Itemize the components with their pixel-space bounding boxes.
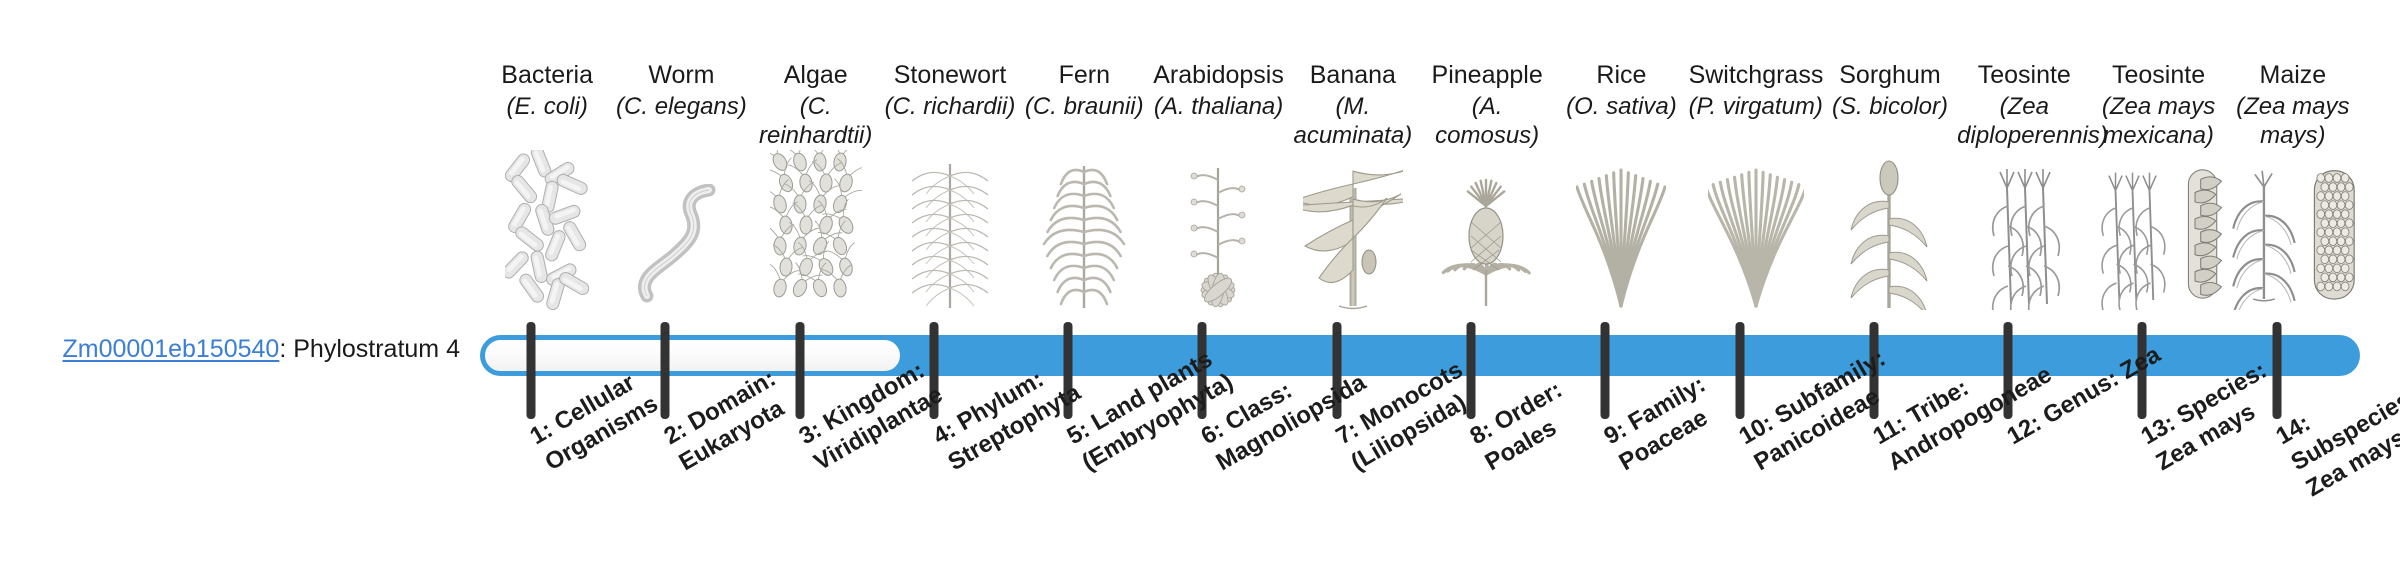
- species-column: Arabidopsis(A. thaliana): [1151, 0, 1285, 580]
- timeline-tick: [527, 322, 536, 419]
- species-common-name: Algae: [749, 60, 883, 90]
- species-illustration-algae-cells: [749, 168, 883, 310]
- species-illustration-stonewort-strands: [883, 168, 1017, 310]
- species-illustration-fern-frond: [1017, 168, 1151, 310]
- species-illustration-sorghum-stalk: [1823, 168, 1957, 310]
- species-common-name: Switchgrass: [1689, 60, 1823, 90]
- species-column: Stonewort(C. richardii): [883, 0, 1017, 580]
- species-common-name: Bacteria: [480, 60, 614, 90]
- species-latin-name: (C. braunii): [1017, 92, 1151, 121]
- species-common-name: Arabidopsis: [1151, 60, 1285, 90]
- species-illustration-banana-plant: [1286, 168, 1420, 310]
- species-latin-name: (E. coli): [480, 92, 614, 121]
- species-latin-name: (Zea mays mexicana): [2091, 92, 2225, 150]
- species-column: Sorghum(S. bicolor): [1823, 0, 1957, 580]
- species-common-name: Fern: [1017, 60, 1151, 90]
- species-column: Pineapple(A. comosus): [1420, 0, 1554, 580]
- species-common-name: Teosinte: [1957, 60, 2091, 90]
- species-illustration-rice-grass: [1554, 168, 1688, 310]
- species-latin-name: (S. bicolor): [1823, 92, 1957, 121]
- gene-id-link[interactable]: Zm00001eb150540: [62, 335, 279, 363]
- species-column: Teosinte(Zea diploperennis): [1957, 0, 2091, 580]
- species-common-name: Maize: [2226, 60, 2360, 90]
- species-column: Teosinte(Zea mays mexicana): [2091, 0, 2225, 580]
- species-illustration-switchgrass-clump: [1689, 168, 1823, 310]
- species-latin-name: (Zea mays mays): [2226, 92, 2360, 150]
- species-latin-name: (P. virgatum): [1689, 92, 1823, 121]
- species-illustration-teosinte-plant: [1957, 168, 2091, 310]
- species-latin-name: (M. acuminata): [1286, 92, 1420, 150]
- species-latin-name: (C. reinhardtii): [749, 92, 883, 150]
- species-column: Algae(C. reinhardtii): [749, 0, 883, 580]
- species-illustration-arabidopsis-rosette: [1151, 168, 1285, 310]
- species-columns: Bacteria(E. coli): [480, 0, 2360, 580]
- species-column: Maize(Zea mays mays): [2226, 0, 2360, 580]
- gene-phylostratum-label: Zm00001eb150540: Phylostratum 4: [20, 334, 460, 364]
- species-latin-name: (C. richardii): [883, 92, 1017, 121]
- species-illustration-nematode-worm: [614, 168, 748, 310]
- phylostratum-timeline-figure: Zm00001eb150540: Phylostratum 4 Bacteria…: [0, 0, 2400, 580]
- species-latin-name: (Zea diploperennis): [1957, 92, 2091, 150]
- species-common-name: Rice: [1554, 60, 1688, 90]
- species-common-name: Sorghum: [1823, 60, 1957, 90]
- species-latin-name: (A. thaliana): [1151, 92, 1285, 121]
- species-column: Banana(M. acuminata): [1286, 0, 1420, 580]
- species-latin-name: (O. sativa): [1554, 92, 1688, 121]
- species-latin-name: (A. comosus): [1420, 92, 1554, 150]
- species-column: Worm(C. elegans): [614, 0, 748, 580]
- species-illustration-maize-plant-ear: [2226, 168, 2360, 310]
- species-illustration-pineapple-plant: [1420, 168, 1554, 310]
- species-column: Fern(C. braunii): [1017, 0, 1151, 580]
- species-common-name: Stonewort: [883, 60, 1017, 90]
- species-common-name: Worm: [614, 60, 748, 90]
- species-common-name: Pineapple: [1420, 60, 1554, 90]
- gene-label-separator: :: [279, 335, 293, 363]
- species-latin-name: (C. elegans): [614, 92, 748, 121]
- species-column: Rice(O. sativa): [1554, 0, 1688, 580]
- species-illustration-bacteria-rods: [480, 168, 614, 310]
- species-column: Bacteria(E. coli): [480, 0, 614, 580]
- species-column: Switchgrass(P. virgatum): [1689, 0, 1823, 580]
- gene-phylostratum-value: Phylostratum 4: [293, 335, 460, 363]
- species-common-name: Teosinte: [2091, 60, 2225, 90]
- species-illustration-teosinte-plant-ear: [2091, 168, 2225, 310]
- species-common-name: Banana: [1286, 60, 1420, 90]
